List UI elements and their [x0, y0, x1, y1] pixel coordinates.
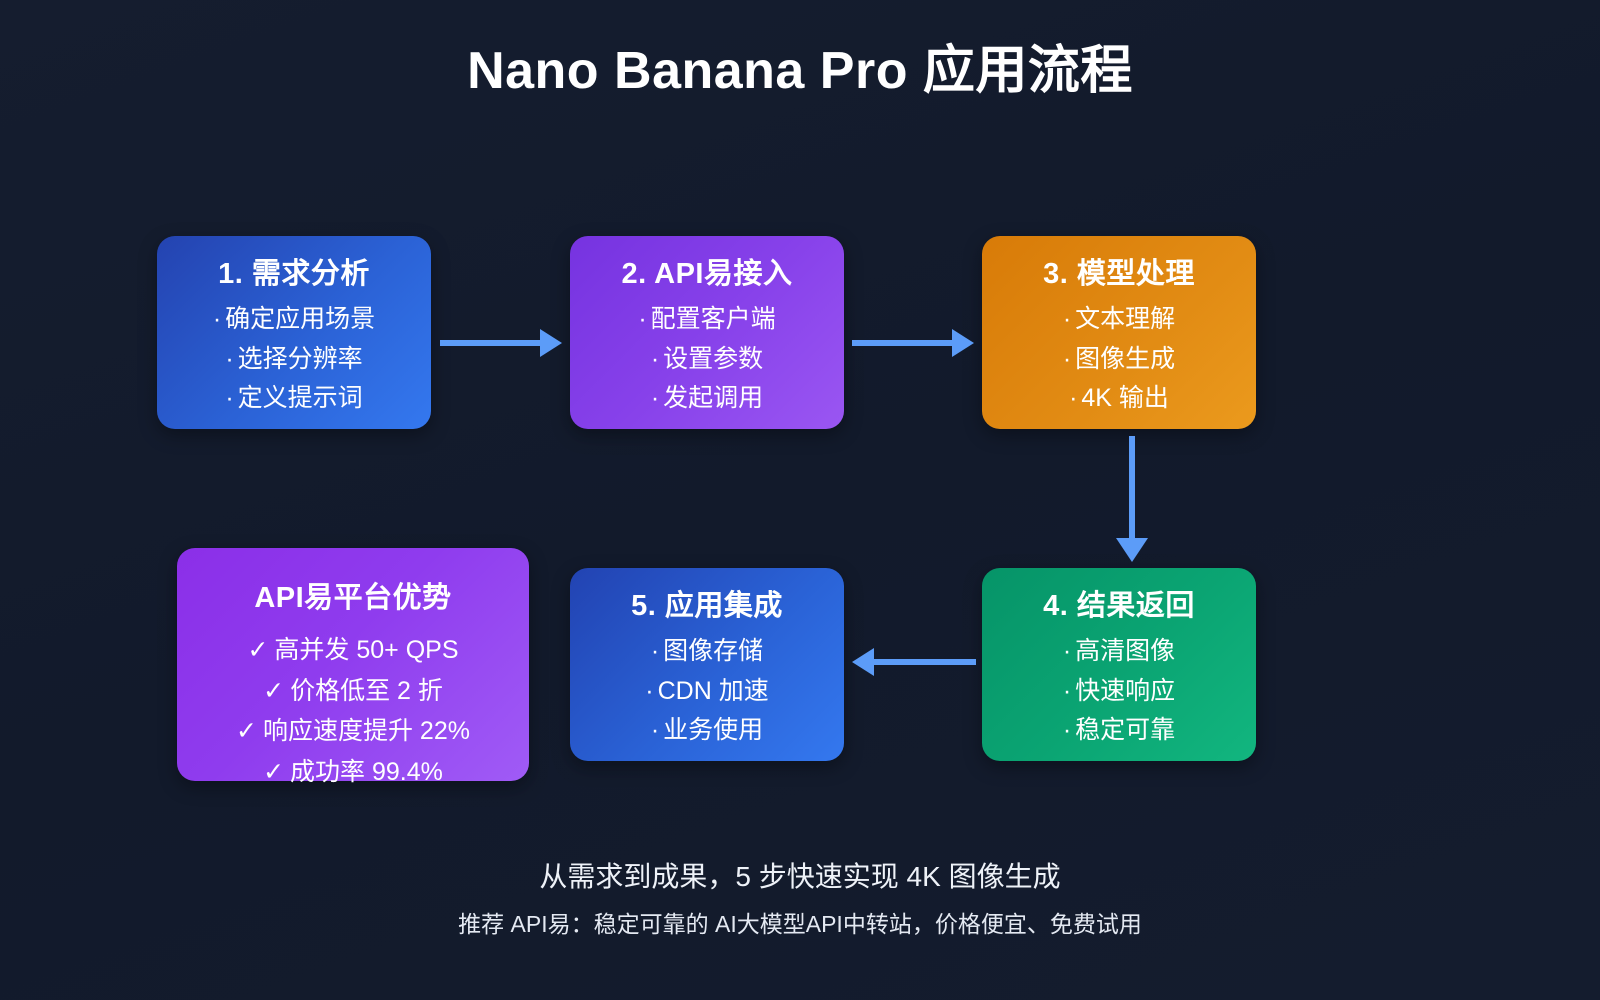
check-icon: ✓	[247, 630, 268, 671]
arrow-shaft	[1129, 436, 1135, 542]
flow-step-1-title: 1. 需求分析	[218, 250, 370, 292]
bullet-icon: ·	[1063, 711, 1071, 751]
flow-step-2-title: 2. API易接入	[621, 250, 792, 292]
list-item-label: 图像生成	[1075, 345, 1175, 373]
list-item-label: 价格低至 2 折	[290, 677, 443, 705]
bullet-icon: ·	[651, 379, 659, 419]
bullet-icon: ·	[651, 632, 659, 672]
arrow-down-icon-step3-step4	[1116, 436, 1148, 564]
list-item: ·定义提示词	[225, 379, 362, 419]
flow-step-4-list: ·高清图像 ·快速响应 ·稳定可靠	[1063, 632, 1175, 751]
bullet-icon: ·	[651, 711, 659, 751]
list-item: ·确定应用场景	[213, 300, 375, 340]
list-item-label: 文本理解	[1075, 305, 1175, 333]
flow-step-3-list: ·文本理解 ·图像生成 ·4K 输出	[1063, 300, 1175, 419]
list-item: ·4K 输出	[1069, 379, 1169, 419]
list-item-label: 图像存储	[663, 637, 763, 665]
platform-advantages-card[interactable]: API易平台优势 ✓高并发 50+ QPS ✓价格低至 2 折 ✓响应速度提升 …	[177, 548, 529, 781]
list-item-label: 发起调用	[663, 384, 763, 412]
list-item: ✓价格低至 2 折	[263, 671, 443, 712]
list-item-label: 稳定可靠	[1075, 716, 1175, 744]
bullet-icon: ·	[213, 300, 221, 340]
bullet-icon: ·	[1069, 379, 1077, 419]
arrow-shaft	[872, 659, 976, 665]
footer-recommendation: 推荐 API易：稳定可靠的 AI大模型API中转站，价格便宜、免费试用	[0, 905, 1600, 939]
list-item: ·稳定可靠	[1063, 711, 1175, 751]
bullet-icon: ·	[651, 340, 659, 380]
list-item-label: 成功率 99.4%	[290, 758, 443, 786]
arrow-head	[1116, 538, 1148, 562]
bullet-icon: ·	[645, 672, 653, 712]
list-item-label: 高清图像	[1075, 637, 1175, 665]
arrow-left-icon-step4-step5	[852, 648, 976, 676]
list-item: ·选择分辨率	[225, 340, 362, 380]
list-item-label: 4K 输出	[1081, 384, 1169, 412]
list-item-label: 快速响应	[1075, 677, 1175, 705]
arrow-head	[540, 329, 562, 357]
list-item: ·设置参数	[651, 340, 763, 380]
flow-step-1[interactable]: 1. 需求分析 ·确定应用场景 ·选择分辨率 ·定义提示词	[157, 236, 431, 429]
bullet-icon: ·	[1063, 300, 1071, 340]
list-item-label: 选择分辨率	[238, 345, 363, 373]
flow-step-4-title: 4. 结果返回	[1043, 582, 1195, 624]
bullet-icon: ·	[1063, 340, 1071, 380]
check-icon: ✓	[236, 711, 257, 752]
list-item: ✓高并发 50+ QPS	[247, 630, 458, 671]
arrow-head	[952, 329, 974, 357]
list-item: ·业务使用	[651, 711, 763, 751]
page-title: Nano Banana Pro 应用流程	[0, 28, 1600, 103]
arrow-head	[852, 648, 874, 676]
bullet-icon: ·	[1063, 632, 1071, 672]
bullet-icon: ·	[225, 379, 233, 419]
flow-step-2[interactable]: 2. API易接入 ·配置客户端 ·设置参数 ·发起调用	[570, 236, 844, 429]
list-item: ·图像存储	[651, 632, 763, 672]
flow-step-3-title: 3. 模型处理	[1043, 250, 1195, 292]
list-item: ·图像生成	[1063, 340, 1175, 380]
list-item-label: 设置参数	[663, 345, 763, 373]
arrow-right-icon-step2-step3	[852, 329, 976, 357]
list-item: ·快速响应	[1063, 672, 1175, 712]
platform-advantages-list: ✓高并发 50+ QPS ✓价格低至 2 折 ✓响应速度提升 22% ✓成功率 …	[236, 630, 470, 792]
check-icon: ✓	[263, 671, 284, 712]
list-item: ·CDN 加速	[645, 672, 768, 712]
list-item: ·发起调用	[651, 379, 763, 419]
platform-advantages-title: API易平台优势	[254, 574, 451, 616]
list-item: ·文本理解	[1063, 300, 1175, 340]
bullet-icon: ·	[638, 300, 646, 340]
flow-step-5-title: 5. 应用集成	[631, 582, 783, 624]
list-item: ·高清图像	[1063, 632, 1175, 672]
list-item-label: CDN 加速	[658, 677, 769, 705]
list-item: ✓成功率 99.4%	[263, 752, 443, 793]
arrow-shaft	[852, 340, 956, 346]
list-item-label: 配置客户端	[651, 305, 776, 333]
diagram-canvas: Nano Banana Pro 应用流程 1. 需求分析 ·确定应用场景 ·选择…	[0, 0, 1600, 1000]
bullet-icon: ·	[225, 340, 233, 380]
flow-step-1-list: ·确定应用场景 ·选择分辨率 ·定义提示词	[213, 300, 375, 419]
list-item: ✓响应速度提升 22%	[236, 711, 470, 752]
list-item-label: 响应速度提升 22%	[263, 717, 470, 745]
flow-step-5-list: ·图像存储 ·CDN 加速 ·业务使用	[645, 632, 768, 751]
flow-step-2-list: ·配置客户端 ·设置参数 ·发起调用	[638, 300, 775, 419]
flow-step-5[interactable]: 5. 应用集成 ·图像存储 ·CDN 加速 ·业务使用	[570, 568, 844, 761]
arrow-shaft	[440, 340, 544, 346]
flow-step-3[interactable]: 3. 模型处理 ·文本理解 ·图像生成 ·4K 输出	[982, 236, 1256, 429]
flow-step-4[interactable]: 4. 结果返回 ·高清图像 ·快速响应 ·稳定可靠	[982, 568, 1256, 761]
check-icon: ✓	[263, 752, 284, 793]
footer-summary: 从需求到成果，5 步快速实现 4K 图像生成	[0, 855, 1600, 895]
list-item-label: 定义提示词	[238, 384, 363, 412]
list-item-label: 确定应用场景	[225, 305, 375, 333]
bullet-icon: ·	[1063, 672, 1071, 712]
list-item: ·配置客户端	[638, 300, 775, 340]
list-item-label: 高并发 50+ QPS	[274, 636, 458, 664]
arrow-right-icon-step1-step2	[440, 329, 564, 357]
list-item-label: 业务使用	[663, 716, 763, 744]
